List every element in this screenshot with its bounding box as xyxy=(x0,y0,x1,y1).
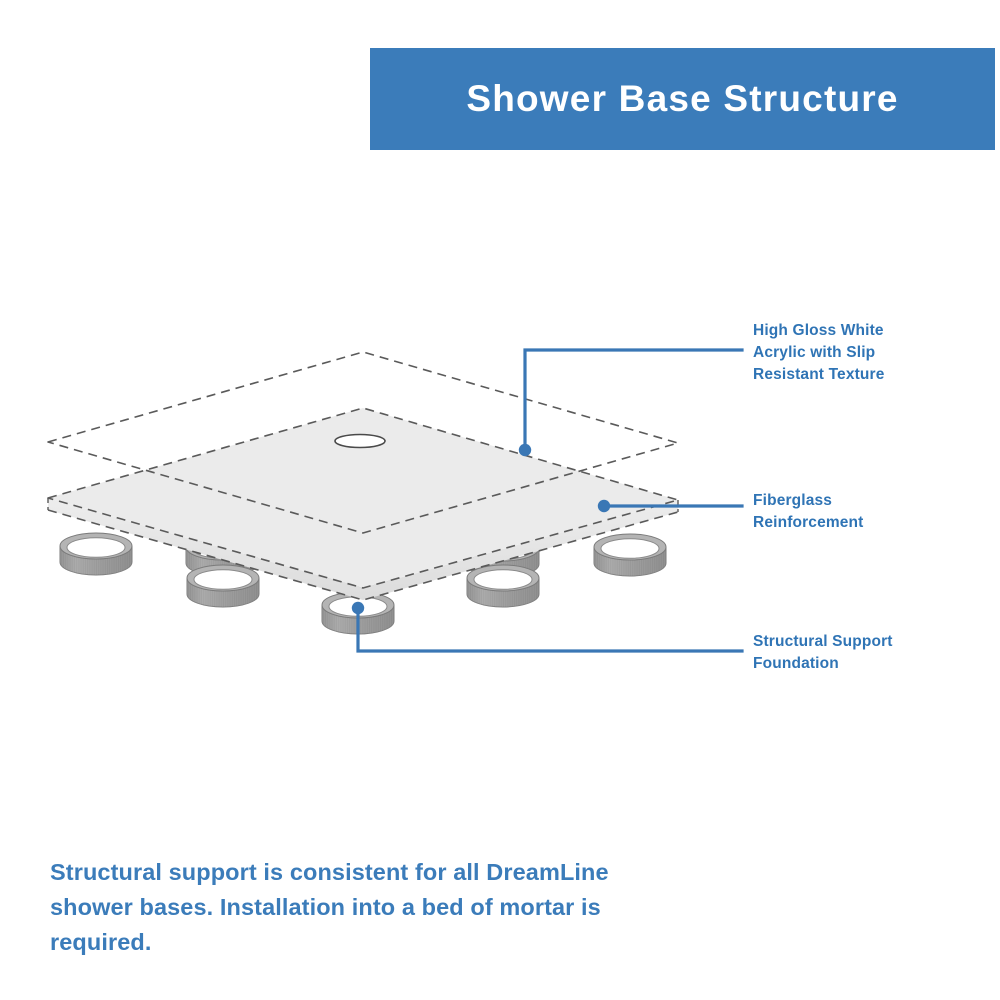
leader-line-acrylic xyxy=(519,350,742,456)
callout-label-fiberglass: Fiberglass Reinforcement xyxy=(753,490,983,534)
support-ring xyxy=(187,565,259,607)
support-ring xyxy=(467,565,539,607)
support-ring xyxy=(60,533,132,575)
callout-label-acrylic: High Gloss White Acrylic with Slip Resis… xyxy=(753,320,983,386)
callout-label-support: Structural Support Foundation xyxy=(753,631,983,675)
support-ring xyxy=(594,534,666,576)
leader-line-support xyxy=(352,602,742,651)
footer-caption: Structural support is consistent for all… xyxy=(50,855,690,959)
drain-opening xyxy=(335,435,385,448)
